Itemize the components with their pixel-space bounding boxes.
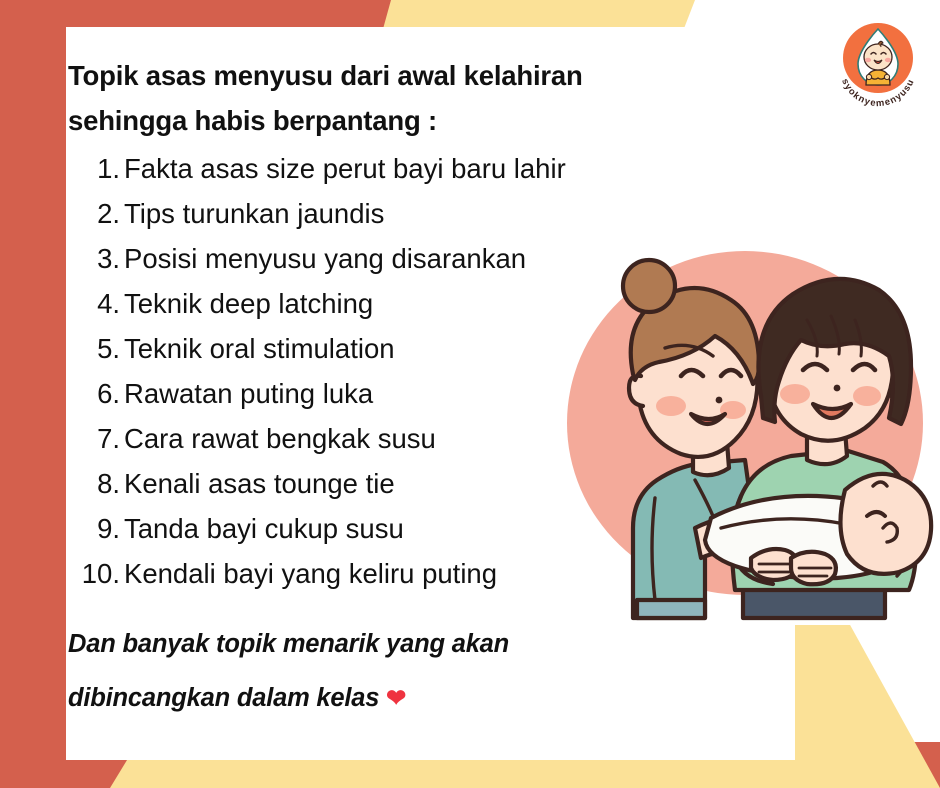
heart-icon: ❤ [386, 685, 406, 712]
heading-line-2: sehingga habis berpantang : [68, 105, 437, 136]
page-title: Topik asas menyusu dari awal kelahiran s… [66, 54, 706, 143]
topic-label: Kenali asas tounge tie [124, 468, 395, 499]
topic-label: Posisi menyusu yang disarankan [124, 243, 526, 274]
topic-label: Teknik deep latching [124, 288, 373, 319]
topics-text-block: Topik asas menyusu dari awal kelahiran s… [66, 54, 706, 725]
brand-logo: syoknyemenyusu [828, 12, 928, 112]
list-item: Teknik deep latching [66, 282, 706, 327]
list-item: Kendali bayi yang keliru puting [66, 552, 706, 597]
closing-note: Dan banyak topik menarik yang akan dibin… [66, 617, 706, 725]
poster-canvas: Topik asas menyusu dari awal kelahiran s… [0, 0, 940, 788]
topic-label: Tanda bayi cukup susu [124, 513, 404, 544]
topic-label: Kendali bayi yang keliru puting [124, 558, 497, 589]
right-yellow-wedge-shape [795, 625, 940, 788]
list-item: Fakta asas size perut bayi baru lahir [66, 147, 706, 192]
content-card: Topik asas menyusu dari awal kelahiran s… [66, 27, 795, 760]
list-item: Cara rawat bengkak susu [66, 417, 706, 462]
list-item: Rawatan puting luka [66, 372, 706, 417]
list-item: Tanda bayi cukup susu [66, 507, 706, 552]
topic-list: Fakta asas size perut bayi baru lahir Ti… [66, 147, 706, 597]
topic-label: Fakta asas size perut bayi baru lahir [124, 153, 566, 184]
topic-label: Teknik oral stimulation [124, 333, 395, 364]
topic-label: Cara rawat bengkak susu [124, 423, 436, 454]
left-red-band-shape [0, 0, 66, 788]
list-item: Kenali asas tounge tie [66, 462, 706, 507]
topic-label: Rawatan puting luka [124, 378, 373, 409]
topic-label: Tips turunkan jaundis [124, 198, 384, 229]
list-item: Tips turunkan jaundis [66, 192, 706, 237]
list-item: Teknik oral stimulation [66, 327, 706, 372]
closing-line-2: dibincangkan dalam kelas [68, 684, 379, 712]
list-item: Posisi menyusu yang disarankan [66, 237, 706, 282]
closing-line-1: Dan banyak topik menarik yang akan [68, 630, 509, 658]
heading-line-1: Topik asas menyusu dari awal kelahiran [68, 60, 583, 91]
